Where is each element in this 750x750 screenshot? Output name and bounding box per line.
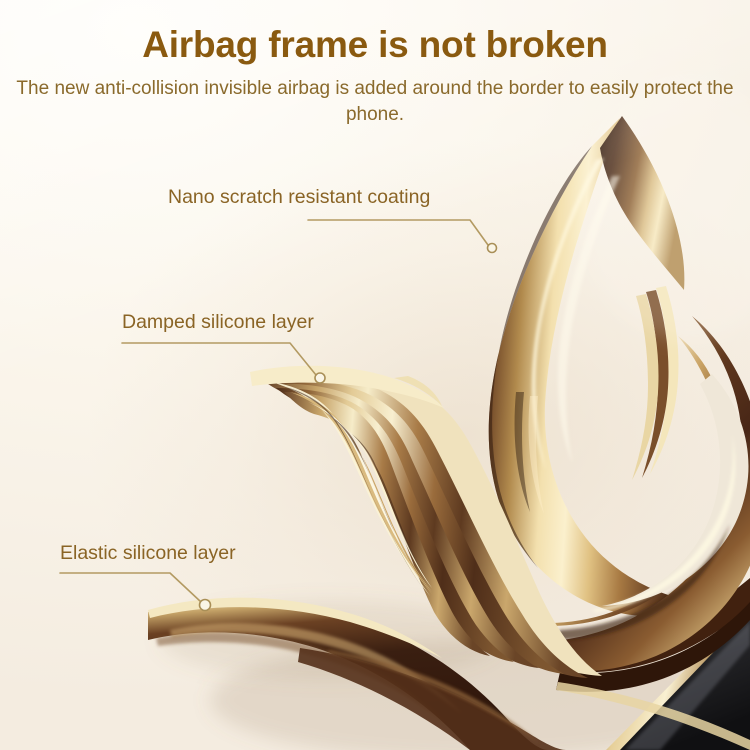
page-subtitle: The new anti-collision invisible airbag … xyxy=(13,76,737,128)
headline-block: Airbag frame is not broken The new anti-… xyxy=(0,22,750,128)
product-banner: Airbag frame is not broken The new anti-… xyxy=(0,0,750,750)
page-title: Airbag frame is not broken xyxy=(0,22,750,68)
callout-label-elastic-silicone: Elastic silicone layer xyxy=(60,541,236,565)
callout-label-damped-silicone: Damped silicone layer xyxy=(122,310,314,334)
callout-label-nano-coating: Nano scratch resistant coating xyxy=(168,185,430,209)
